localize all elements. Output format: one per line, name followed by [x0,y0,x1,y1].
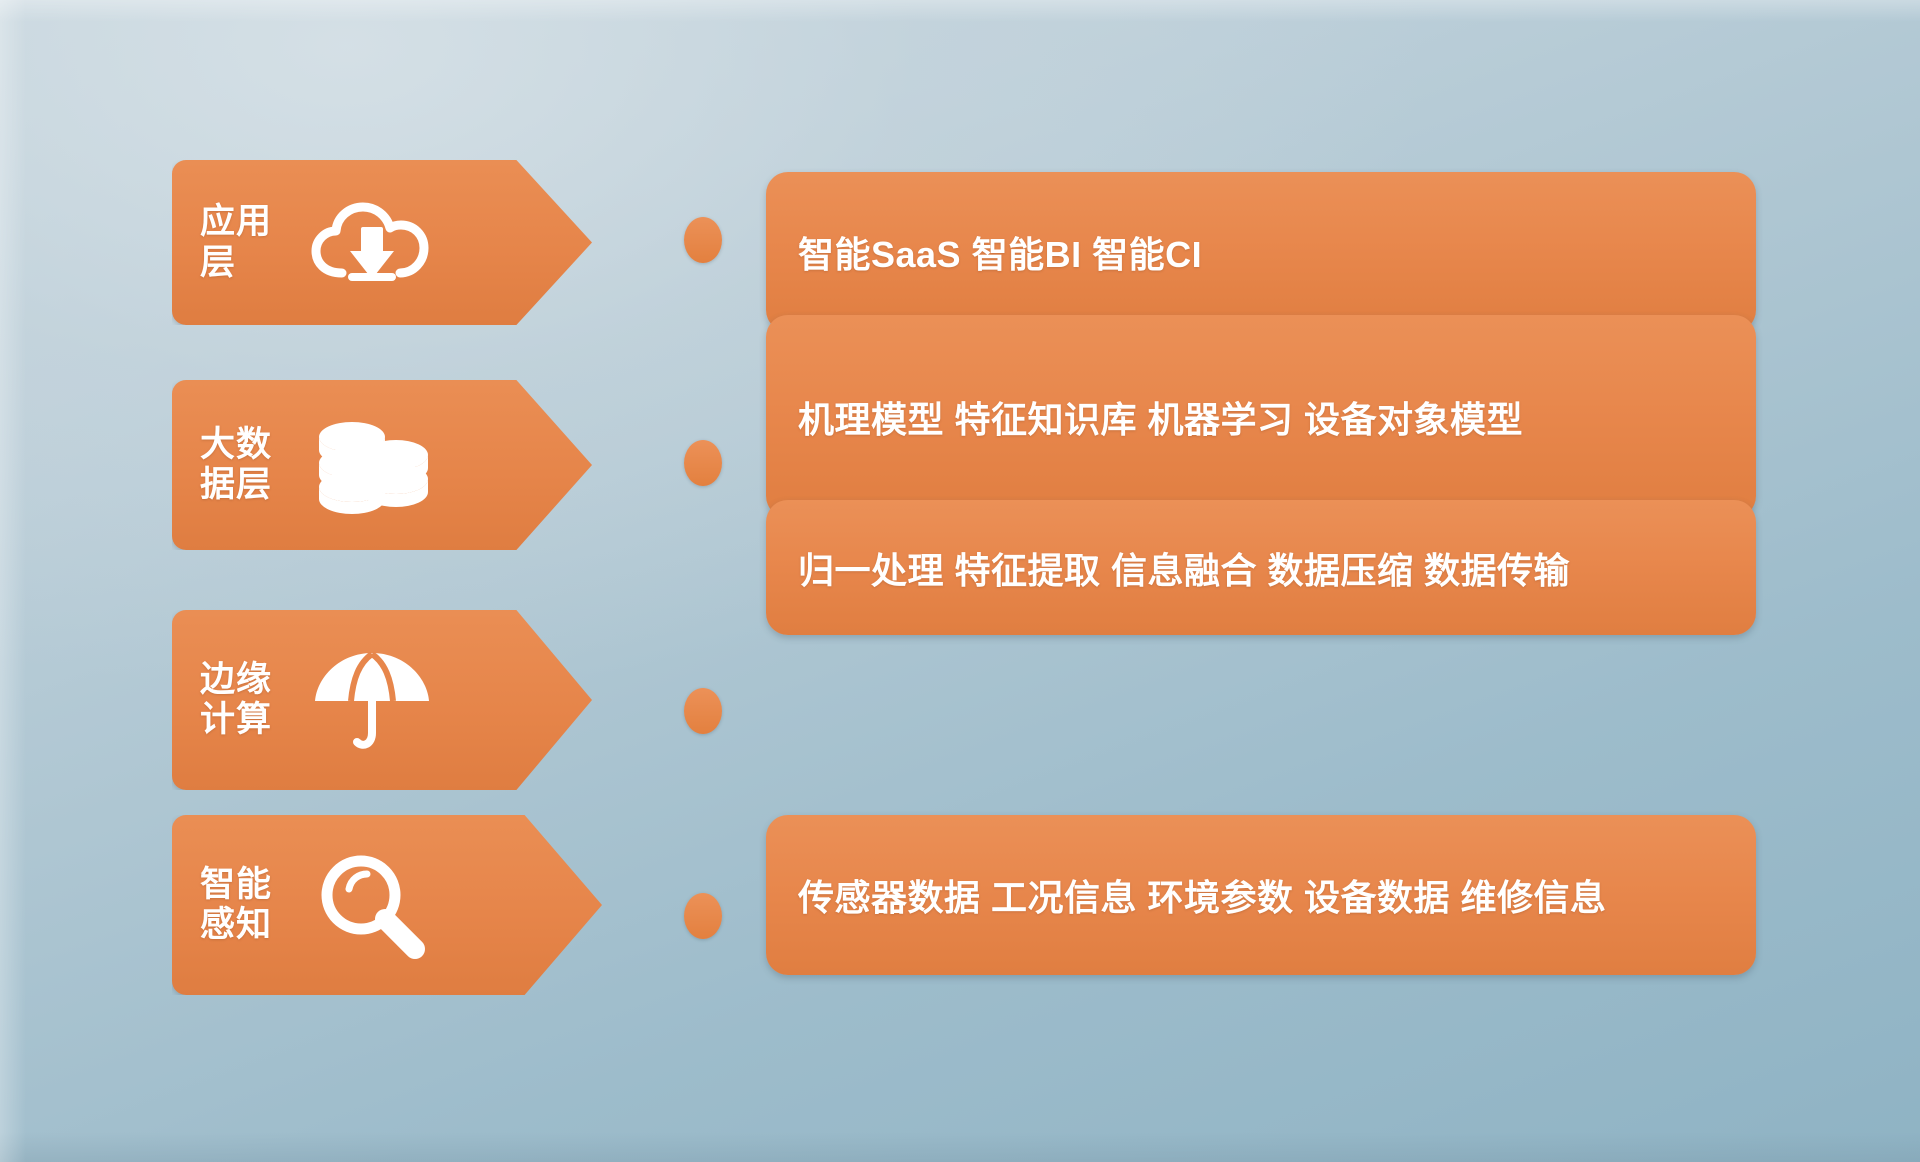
layer-label-smart-sensing: 智能 感知 [200,865,292,946]
layer-content-edge-computing: 归一处理 特征提取 信息融合 数据压缩 数据传输 [798,542,1570,594]
connector-dot-smart-sensing [684,893,722,939]
layer-label-application: 应用 层 [200,202,292,283]
layer-content-big-data: 机理模型 特征知识库 机器学习 设备对象模型 [798,391,1523,443]
layer-panel-edge-computing[interactable]: 归一处理 特征提取 信息融合 数据压缩 数据传输 [766,500,1756,635]
layer-chevron-smart-sensing[interactable]: 智能 感知 [172,815,602,995]
layer-label-edge-computing: 边缘 计算 [200,660,292,741]
layer-chevron-application[interactable]: 应用 层 [172,160,592,325]
layer-chevron-edge-computing[interactable]: 边缘 计算 [172,610,592,790]
connector-dot-application [684,217,722,263]
diagram-canvas: 应用 层 智能SaaS 智能BI 智能CI [0,0,1920,1162]
umbrella-icon [306,610,438,790]
layer-content-smart-sensing: 传感器数据 工况信息 环境参数 设备数据 维修信息 [798,869,1607,921]
layer-chevron-big-data[interactable]: 大数 据层 [172,380,592,550]
connector-dot-big-data [684,440,722,486]
layer-content-application: 智能SaaS 智能BI 智能CI [798,226,1202,278]
connector-dot-edge-computing [684,688,722,734]
layer-label-big-data: 大数 据层 [200,425,292,506]
stacked-coins-icon [306,380,438,550]
magnifier-icon [306,815,438,995]
layer-panel-application[interactable]: 智能SaaS 智能BI 智能CI [766,172,1756,332]
layer-panel-smart-sensing[interactable]: 传感器数据 工况信息 环境参数 设备数据 维修信息 [766,815,1756,975]
cloud-download-icon [306,160,438,325]
layer-panel-big-data[interactable]: 机理模型 特征知识库 机器学习 设备对象模型 [766,315,1756,518]
